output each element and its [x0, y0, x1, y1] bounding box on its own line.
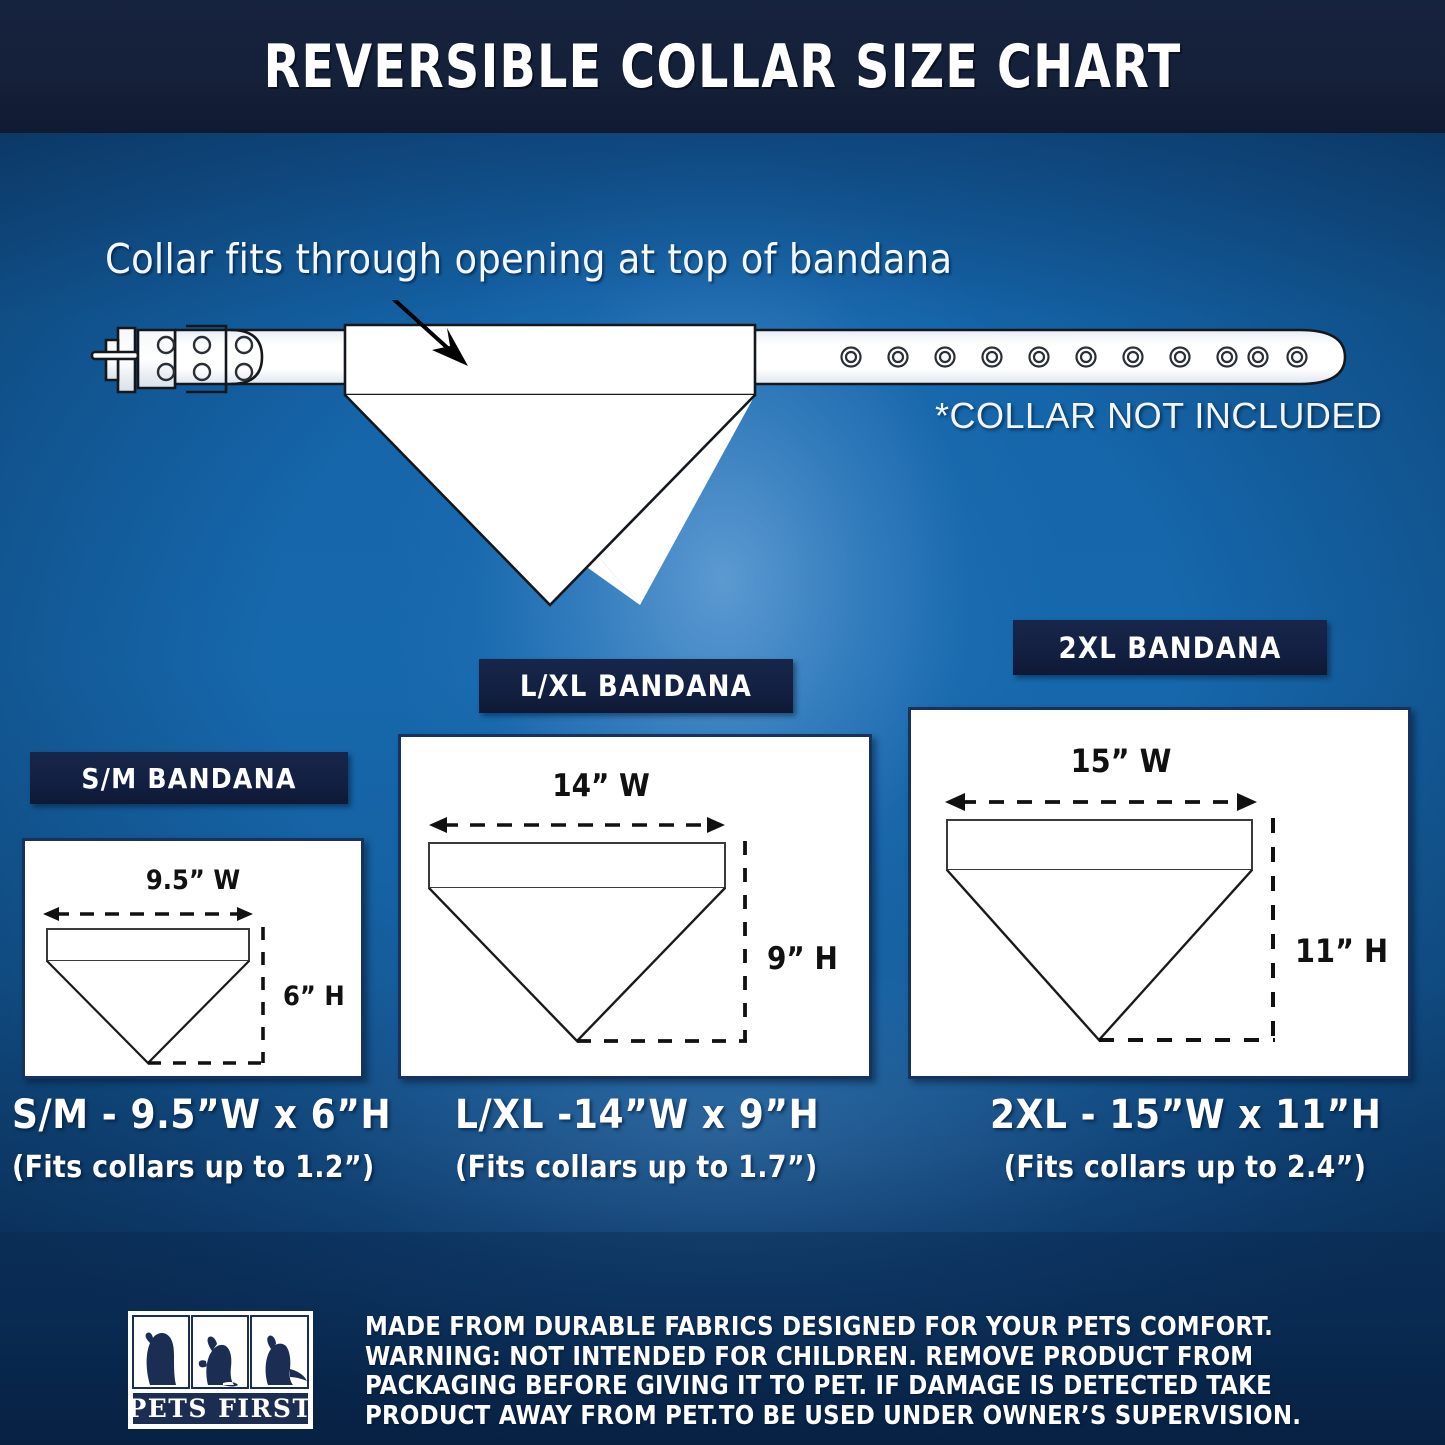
bandana-sleeve-sm	[47, 929, 249, 961]
legal-line-4: PRODUCT AWAY FROM PET.TO BE USED UNDER O…	[365, 1402, 1350, 1432]
collar-hint-text: Collar fits through opening at top of ba…	[105, 235, 1165, 283]
legal-line-1: MADE FROM DURABLE FABRICS DESIGNED FOR Y…	[365, 1313, 1350, 1343]
card-sm: 9.5” W 6” H	[22, 838, 364, 1079]
bandana-triangle-2xl	[947, 870, 1252, 1040]
caption-sm-sub: (Fits collars up to 1.2”)	[12, 1150, 372, 1185]
banner-lxl: L/XL BANDANA	[479, 659, 793, 713]
bandana-sleeve-lxl	[429, 843, 725, 888]
diagram-sm: 9.5” W 6” H	[25, 841, 361, 1076]
bandana-triangle-lxl	[429, 888, 725, 1041]
banner-sm: S/M BANDANA	[30, 752, 348, 804]
width-label-lxl: 14” W	[552, 768, 650, 804]
logo-wordmark: PETS FIRST	[128, 1394, 313, 1423]
card-2xl: 15” W 11” H	[908, 707, 1411, 1079]
width-label-sm: 9.5” W	[146, 865, 240, 896]
bandana-triangle-sm	[47, 961, 249, 1063]
size-chart-page: REVERSIBLE COLLAR SIZE CHART Collar fits…	[0, 0, 1445, 1445]
diagram-2xl: 15” W 11” H	[911, 710, 1408, 1076]
height-label-2xl: 11” H	[1295, 932, 1388, 970]
width-dim-arrow-sm	[43, 907, 253, 921]
diagram-lxl: 14” W 9” H	[401, 737, 869, 1076]
width-dim-arrow-2xl	[945, 793, 1257, 811]
caption-sm-main: S/M - 9.5”W x 6”H	[12, 1092, 372, 1138]
caption-lxl-main: L/XL -14”W x 9”H	[455, 1092, 815, 1138]
caption-2xl-sub: (Fits collars up to 2.4”)	[990, 1150, 1380, 1185]
caption-sm: S/M - 9.5”W x 6”H (Fits collars up to 1.…	[12, 1092, 372, 1185]
banner-2xl-label: 2XL BANDANA	[1059, 631, 1282, 665]
bandana-graphic	[345, 325, 755, 605]
width-dim-arrow-lxl	[429, 817, 725, 833]
page-title: REVERSIBLE COLLAR SIZE CHART	[263, 32, 1181, 102]
banner-2xl: 2XL BANDANA	[1013, 620, 1327, 675]
caption-lxl-sub: (Fits collars up to 1.7”)	[455, 1150, 815, 1185]
collar-not-included-note: *COLLAR NOT INCLUDED	[935, 395, 1382, 437]
banner-lxl-label: L/XL BANDANA	[520, 669, 752, 703]
caption-2xl-main: 2XL - 15”W x 11”H	[990, 1092, 1380, 1138]
banner-sm-label: S/M BANDANA	[81, 762, 296, 795]
legal-line-2: WARNING: NOT INTENDED FOR CHILDREN. REMO…	[365, 1343, 1350, 1373]
width-label-2xl: 15” W	[1071, 742, 1172, 780]
pets-first-logo: PETS FIRST	[128, 1311, 313, 1429]
height-label-sm: 6” H	[283, 981, 345, 1012]
card-lxl: 14” W 9” H	[398, 734, 872, 1079]
collar-bandana-illustration	[0, 300, 1445, 620]
legal-line-3: PACKAGING BEFORE GIVING IT TO PET. IF DA…	[365, 1372, 1350, 1402]
bandana-sleeve-2xl	[947, 820, 1252, 870]
legal-text: MADE FROM DURABLE FABRICS DESIGNED FOR Y…	[365, 1313, 1350, 1431]
dog-silhouette-sitting-icon	[146, 1332, 176, 1385]
caption-lxl: L/XL -14”W x 9”H (Fits collars up to 1.7…	[455, 1092, 815, 1185]
caption-2xl: 2XL - 15”W x 11”H (Fits collars up to 2.…	[990, 1092, 1380, 1185]
height-label-lxl: 9” H	[767, 941, 838, 977]
page-header: REVERSIBLE COLLAR SIZE CHART	[0, 0, 1445, 133]
